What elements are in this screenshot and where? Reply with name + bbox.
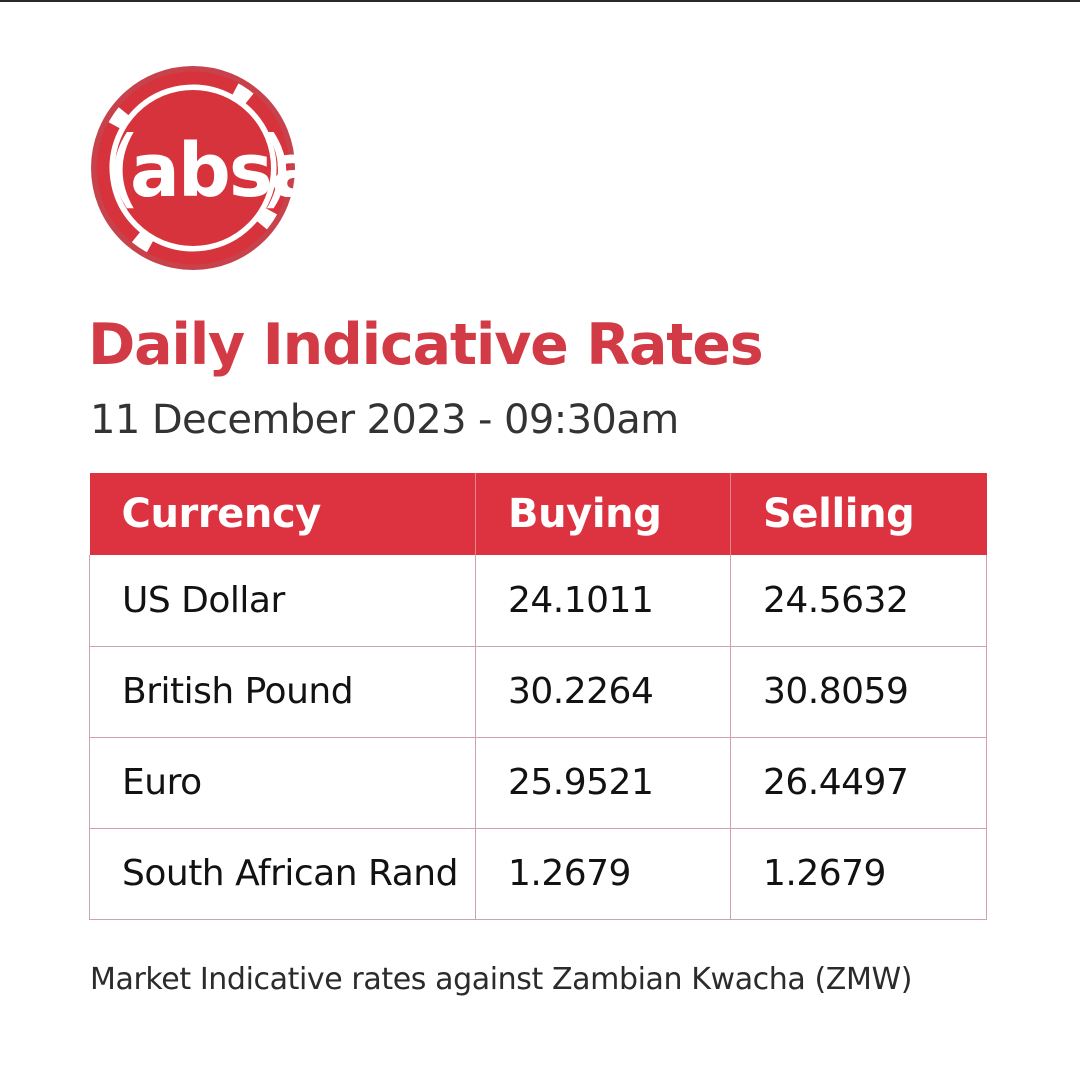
page-subtitle: 11 December 2023 - 09:30am — [90, 398, 679, 442]
cell-buying: 30.2264 — [476, 646, 731, 737]
column-header-currency: Currency — [90, 473, 476, 555]
page-title: Daily Indicative Rates — [88, 316, 762, 376]
absa-logo-icon: ( absa ) — [88, 62, 298, 274]
exchange-rates-table: Currency Buying Selling US Dollar 24.101… — [89, 473, 987, 920]
rates-card: ( absa ) Daily Indicative Rates 11 Decem… — [0, 0, 1080, 1078]
cell-selling: 24.5632 — [731, 555, 987, 646]
cell-currency: US Dollar — [90, 555, 476, 646]
table-row: Euro 25.9521 26.4497 — [90, 737, 987, 828]
cell-selling: 1.2679 — [731, 828, 987, 919]
cell-buying: 25.9521 — [476, 737, 731, 828]
table-row: British Pound 30.2264 30.8059 — [90, 646, 987, 737]
top-divider — [0, 0, 1080, 2]
absa-logo: ( absa ) — [88, 62, 298, 274]
table-row: South African Rand 1.2679 1.2679 — [90, 828, 987, 919]
cell-selling: 30.8059 — [731, 646, 987, 737]
cell-currency: British Pound — [90, 646, 476, 737]
cell-selling: 26.4497 — [731, 737, 987, 828]
table-row: US Dollar 24.1011 24.5632 — [90, 555, 987, 646]
table-header-row: Currency Buying Selling — [90, 473, 987, 555]
table-body: US Dollar 24.1011 24.5632 British Pound … — [90, 555, 987, 919]
column-header-buying: Buying — [476, 473, 731, 555]
cell-buying: 24.1011 — [476, 555, 731, 646]
column-header-selling: Selling — [731, 473, 987, 555]
cell-currency: Euro — [90, 737, 476, 828]
cell-buying: 1.2679 — [476, 828, 731, 919]
logo-right-paren: ) — [260, 118, 294, 218]
cell-currency: South African Rand — [90, 828, 476, 919]
table-header: Currency Buying Selling — [90, 473, 987, 555]
footnote-text: Market Indicative rates against Zambian … — [90, 962, 912, 997]
